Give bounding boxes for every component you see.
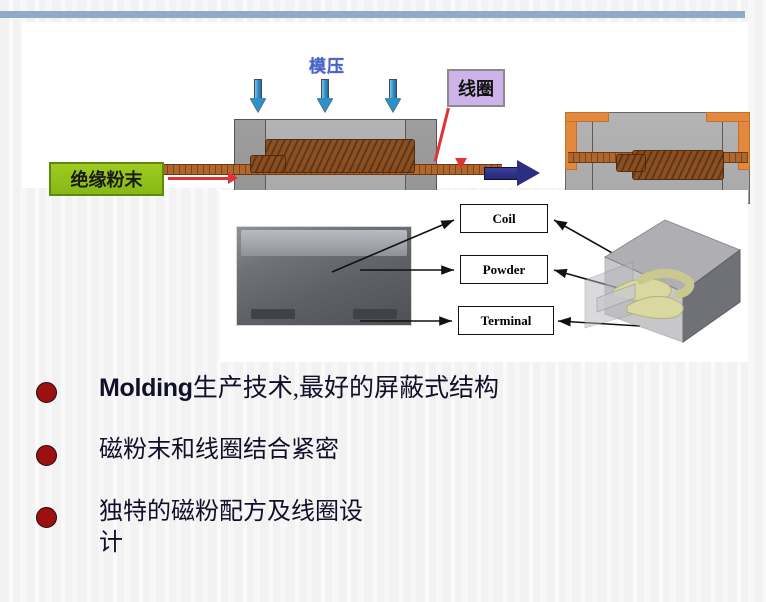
coil-label-zh: 线圈: [447, 69, 505, 107]
coil-winding-right-tail: [616, 154, 646, 172]
callout-powder: Powder: [460, 255, 548, 284]
header-accent-bar: [0, 11, 745, 18]
bullet-marker-icon: [36, 507, 57, 528]
coil-winding-left-tail: [250, 155, 286, 173]
molding-pressure-label: 模压: [309, 52, 345, 77]
slide-canvas: 模压: [0, 0, 766, 602]
list-item: 磁粉末和线圈结合紧密: [0, 435, 766, 467]
bullet-list: Molding生产技术,最好的屏蔽式结构 磁粉末和线圈结合紧密 独特的磁粉配方及…: [0, 372, 766, 590]
coil-winding-left: [265, 139, 415, 173]
callout-terminal: Terminal: [458, 306, 554, 335]
cutaway-3d-illustration: [575, 202, 745, 352]
list-item: 独特的磁粉配方及线圈设 计: [0, 497, 766, 560]
terminal-top-left: [565, 112, 609, 122]
press-arrow-icon: [385, 79, 401, 113]
process-diagram-panel: 模压: [22, 22, 748, 188]
bullet-marker-icon: [36, 445, 57, 466]
powder-pointer-head: [228, 172, 238, 184]
powder-pointer-line: [168, 177, 230, 180]
bullet-1-text: 生产技术,最好的屏蔽式结构: [193, 375, 499, 402]
callout-coil: Coil: [460, 204, 548, 233]
terminal-top-right: [706, 112, 750, 122]
bullet-1-english: Molding: [99, 374, 193, 402]
insulating-powder-label: 绝缘粉末: [49, 162, 164, 196]
product-photo-panel: Coil Powder Terminal: [220, 190, 748, 362]
bullet-3-text-line2: 计: [99, 528, 363, 560]
bullet-marker-icon: [36, 382, 57, 403]
list-item: Molding生产技术,最好的屏蔽式结构: [0, 372, 766, 405]
bullet-3-text: 独特的磁粉配方及线圈设: [99, 497, 363, 529]
press-arrow-icon: [317, 79, 333, 113]
molded-inductor-photo: [236, 226, 412, 326]
coil-pointer-head: [455, 158, 467, 169]
process-flow-arrow-icon: [484, 160, 540, 186]
press-arrow-icon: [250, 79, 266, 113]
bullet-2-text: 磁粉末和线圈结合紧密: [99, 435, 339, 467]
